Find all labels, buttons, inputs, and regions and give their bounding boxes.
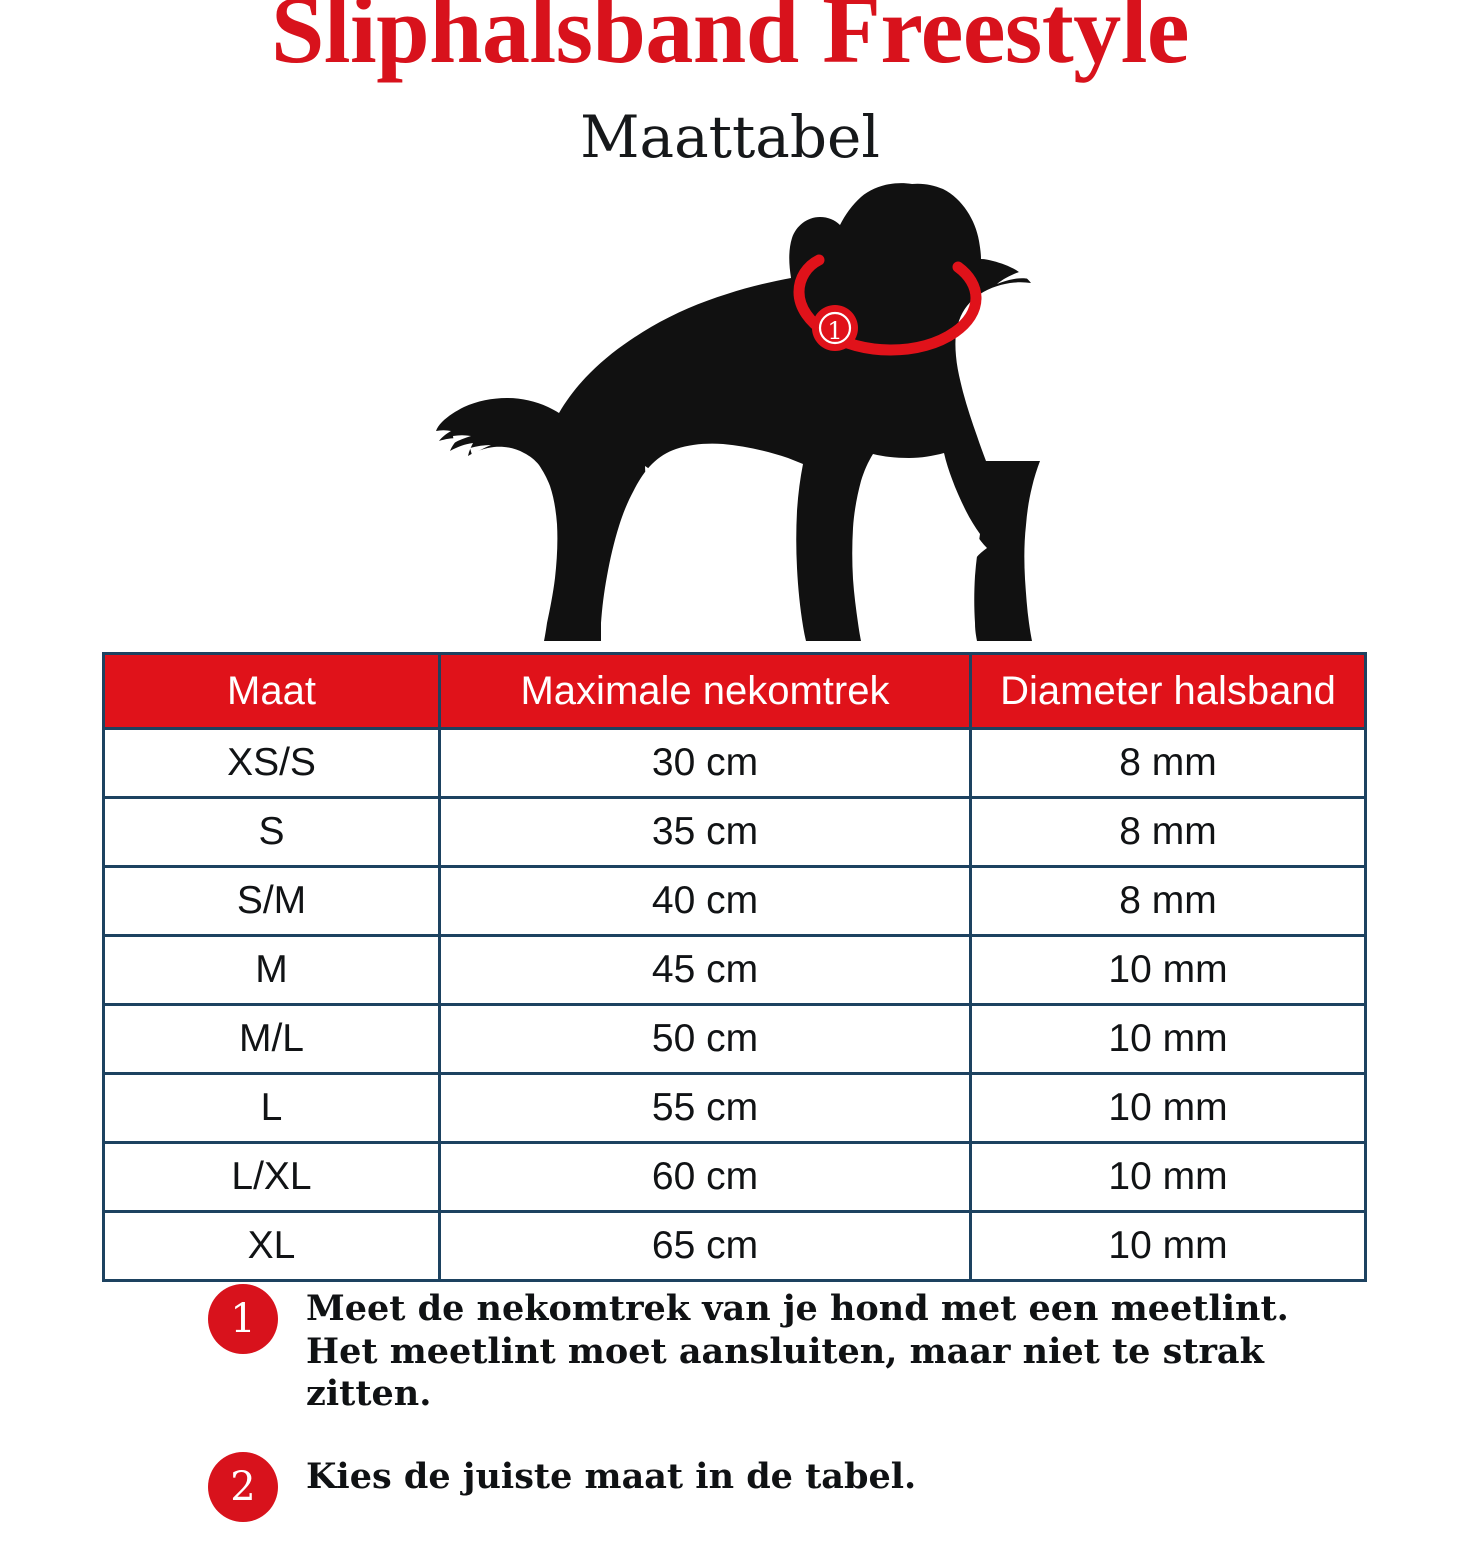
collar-marker-badge: 1: [812, 305, 858, 351]
header-block: Sliphalsband Freestyle: [0, 0, 1460, 78]
cell-size: L: [104, 1074, 440, 1143]
cell-neck: 40 cm: [440, 867, 971, 936]
dog-illustration: 1: [415, 168, 1045, 646]
cell-neck: 35 cm: [440, 798, 971, 867]
table-row: S 35 cm 8 mm: [104, 798, 1366, 867]
table-row: S/M 40 cm 8 mm: [104, 867, 1366, 936]
instructions-list: 1 Meet de nekomtrek van je hond met een …: [208, 1288, 1388, 1562]
cell-size: L/XL: [104, 1143, 440, 1212]
column-header-neck-circumference: Maximale nekomtrek: [440, 654, 971, 729]
table-row: L/XL 60 cm 10 mm: [104, 1143, 1366, 1212]
collar-marker-label: 1: [827, 317, 842, 345]
cell-size: XL: [104, 1212, 440, 1281]
cell-neck: 65 cm: [440, 1212, 971, 1281]
page-title: Sliphalsband Freestyle: [0, 0, 1460, 78]
cell-size: M/L: [104, 1005, 440, 1074]
cell-diam: 10 mm: [971, 936, 1366, 1005]
dog-silhouette-shape: [436, 183, 1040, 641]
step-badge-1: 1: [208, 1284, 278, 1354]
table-row: XL 65 cm 10 mm: [104, 1212, 1366, 1281]
page-subtitle: Maattabel: [0, 108, 1460, 166]
cell-size: S: [104, 798, 440, 867]
cell-diam: 8 mm: [971, 798, 1366, 867]
size-chart-table: Maat Maximale nekomtrek Diameter halsban…: [102, 652, 1367, 1282]
cell-neck: 45 cm: [440, 936, 971, 1005]
cell-neck: 55 cm: [440, 1074, 971, 1143]
table-row: L 55 cm 10 mm: [104, 1074, 1366, 1143]
cell-diam: 10 mm: [971, 1143, 1366, 1212]
cell-diam: 8 mm: [971, 867, 1366, 936]
cell-diam: 10 mm: [971, 1074, 1366, 1143]
cell-size: XS/S: [104, 729, 440, 798]
cell-diam: 8 mm: [971, 729, 1366, 798]
step-badge-2: 2: [208, 1452, 278, 1522]
instruction-text-1: Meet de nekomtrek van je hond met een me…: [306, 1288, 1336, 1416]
table-body: XS/S 30 cm 8 mm S 35 cm 8 mm S/M 40 cm 8…: [104, 729, 1366, 1281]
cell-diam: 10 mm: [971, 1005, 1366, 1074]
cell-size: S/M: [104, 867, 440, 936]
column-header-size: Maat: [104, 654, 440, 729]
table-row: M/L 50 cm 10 mm: [104, 1005, 1366, 1074]
cell-neck: 60 cm: [440, 1143, 971, 1212]
cell-diam: 10 mm: [971, 1212, 1366, 1281]
cell-neck: 30 cm: [440, 729, 971, 798]
instruction-item: 2 Kies de juiste maat in de tabel.: [208, 1456, 1388, 1522]
instruction-item: 1 Meet de nekomtrek van je hond met een …: [208, 1288, 1388, 1416]
table-header: Maat Maximale nekomtrek Diameter halsban…: [104, 654, 1366, 729]
cell-neck: 50 cm: [440, 1005, 971, 1074]
cell-size: M: [104, 936, 440, 1005]
table-row: XS/S 30 cm 8 mm: [104, 729, 1366, 798]
instruction-text-2: Kies de juiste maat in de tabel.: [306, 1456, 916, 1499]
column-header-collar-diameter: Diameter halsband: [971, 654, 1366, 729]
table-row: M 45 cm 10 mm: [104, 936, 1366, 1005]
table-header-row: Maat Maximale nekomtrek Diameter halsban…: [104, 654, 1366, 729]
